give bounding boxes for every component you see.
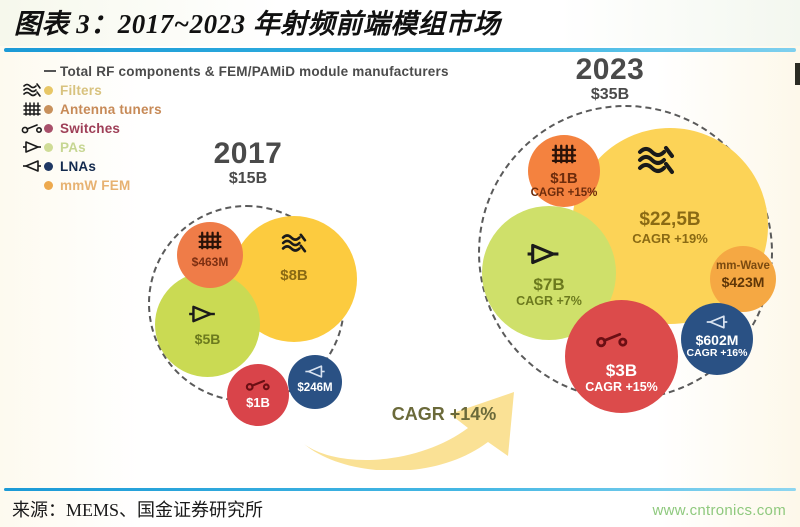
- bubble-cagr: CAGR +15%: [531, 187, 598, 199]
- legend-dot-mmw-fem: [44, 181, 53, 190]
- legend-dot-pas: [44, 143, 53, 152]
- bubble-value: $3B: [606, 362, 637, 379]
- bubble-value: $5B: [195, 332, 221, 346]
- legend-dot-antenna-tuners: [44, 105, 53, 114]
- bubble-2017-lnas[interactable]: $246M: [288, 355, 342, 409]
- bubble-cagr: CAGR +15%: [585, 381, 658, 394]
- bubble-cagr: CAGR +7%: [516, 295, 582, 308]
- bubble-value: $602M: [696, 333, 739, 347]
- legend-glyph-none: [20, 62, 44, 80]
- legend-item-filters: Filters: [20, 81, 450, 99]
- year-total-2017: $15B: [183, 170, 313, 188]
- footer-divider: [4, 488, 796, 491]
- pa-amplifier-icon: [20, 138, 44, 156]
- watermark: www.cntronics.com: [653, 500, 786, 522]
- bubble-2023-switches[interactable]: $3B CAGR +15%: [565, 300, 678, 413]
- legend-label-filters: Filters: [60, 83, 102, 98]
- year-caption-2017: 2017 $15B: [183, 138, 313, 188]
- legend-label-pas: PAs: [60, 140, 86, 155]
- switch-icon: [20, 119, 44, 137]
- bubble-value: $463M: [192, 256, 229, 268]
- bubble-cagr: CAGR +19%: [632, 232, 708, 246]
- bubble-prefix: mm-Wave: [716, 260, 770, 272]
- figure-canvas: 图表 3：2017~2023 年射频前端模组市场 Total RF compon…: [0, 0, 800, 527]
- legend-dot-filters: [44, 86, 53, 95]
- legend-glyph-none-mmw: [20, 176, 44, 194]
- bubble-value: $22,5B: [639, 210, 700, 229]
- legend-label-total: Total RF components & FEM/PAMiD module m…: [60, 64, 449, 79]
- page-title: 图表 3：2017~2023 年射频前端模组市场: [14, 4, 774, 44]
- legend-label-switches: Switches: [60, 121, 120, 136]
- bubble-value: $1B: [550, 171, 578, 186]
- legend-label-antenna-tuners: Antenna tuners: [60, 102, 162, 117]
- bubble-value: $1B: [246, 396, 270, 409]
- year-label-2023: 2023: [545, 54, 675, 86]
- legend-dot-switches: [44, 124, 53, 133]
- bubble-value: $7B: [533, 276, 564, 293]
- bubble-value: $8B: [280, 268, 308, 283]
- antenna-tuner-icon: [20, 100, 44, 118]
- legend-item-switches: Switches: [20, 119, 450, 137]
- cagr-annotation-label: CAGR +14%: [369, 404, 519, 425]
- header-divider: [4, 48, 796, 52]
- source-note: 来源：MEMS、国金证券研究所: [12, 497, 263, 523]
- filters-wave-icon: [20, 81, 44, 99]
- cropped-edge-glyph: [795, 63, 800, 85]
- bubble-2023-mmw-fem[interactable]: mm-Wave $423M: [710, 246, 776, 312]
- bubble-cagr: CAGR +16%: [687, 348, 748, 359]
- legend-item-total: Total RF components & FEM/PAMiD module m…: [20, 62, 450, 80]
- legend-dot-lnas: [44, 162, 53, 171]
- legend-item-antenna-tuners: Antenna tuners: [20, 100, 450, 118]
- bubble-2023-lnas[interactable]: $602M CAGR +16%: [681, 303, 753, 375]
- bubble-value: $246M: [297, 383, 332, 395]
- year-caption-2023: 2023 $35B: [545, 54, 675, 104]
- legend-label-lnas: LNAs: [60, 159, 96, 174]
- bubble-value: $423M: [722, 275, 765, 289]
- legend-label-mmw-fem: mmW FEM: [60, 178, 130, 193]
- year-total-2023: $35B: [545, 86, 675, 104]
- year-label-2017: 2017: [183, 138, 313, 170]
- bubble-2023-antenna-tuners[interactable]: $1B CAGR +15%: [528, 135, 600, 207]
- bubble-2017-antenna-tuners[interactable]: $463M: [177, 222, 243, 288]
- dashed-line-marker: [44, 70, 56, 72]
- bubble-2017-switches[interactable]: $1B: [227, 364, 289, 426]
- lna-amplifier-icon: [20, 157, 44, 175]
